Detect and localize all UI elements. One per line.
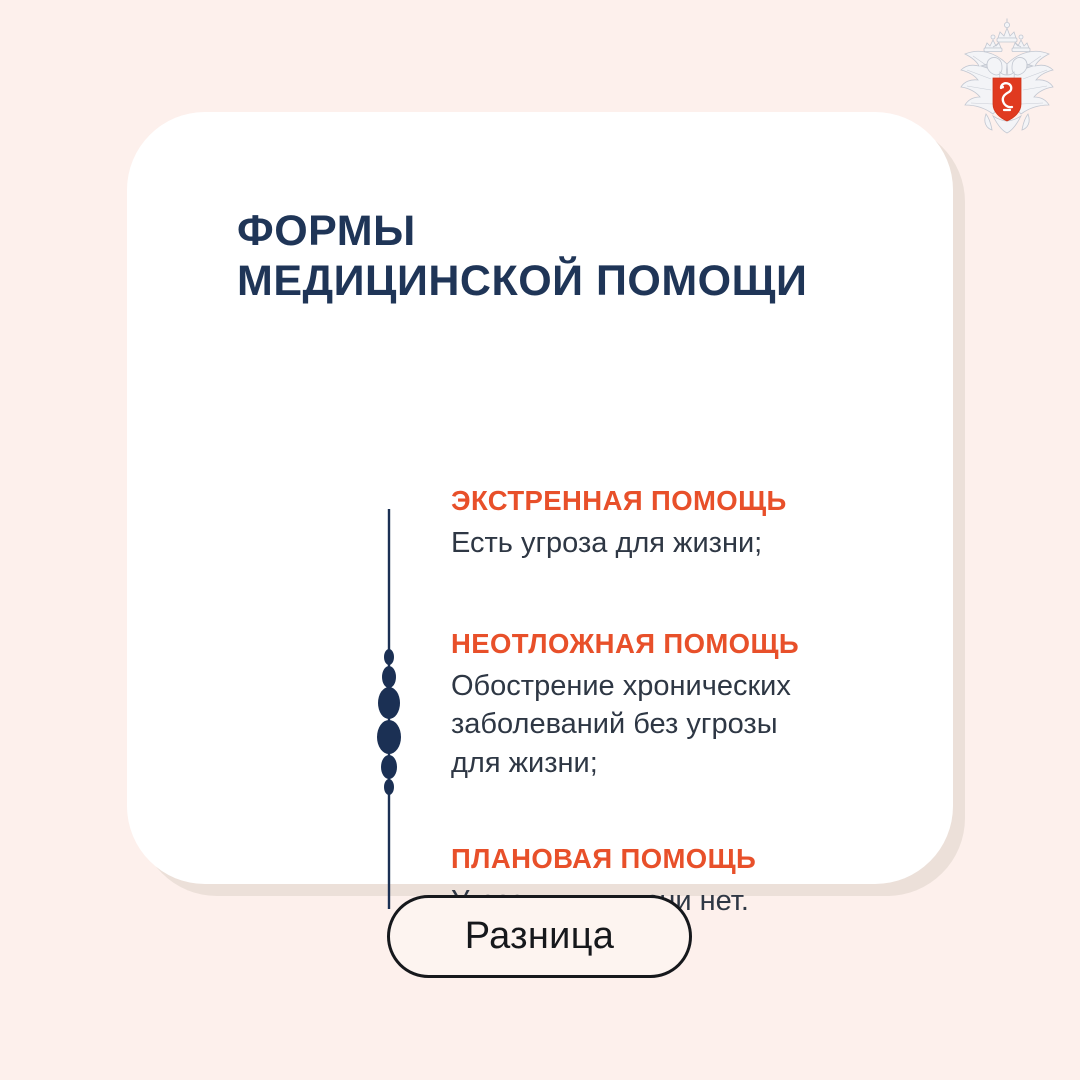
page-title: ФОРМЫ МЕДИЦИНСКОЙ ПОМОЩИ (237, 207, 897, 307)
content-card: ФОРМЫ МЕДИЦИНСКОЙ ПОМОЩИ ЭКСТРЕННАЯ ПОМО… (127, 112, 953, 884)
ornament-svg (374, 509, 404, 909)
difference-button[interactable]: Разница (387, 895, 692, 978)
list-item-description: Есть угроза для жизни; (451, 524, 921, 562)
beaded-vertical-divider-icon (374, 509, 404, 909)
list-item-title: ЭКСТРЕННАЯ ПОМОЩЬ (451, 484, 921, 517)
emblem-svg (953, 18, 1061, 138)
list-item-title: ПЛАНОВАЯ ПОМОЩЬ (451, 842, 921, 875)
list-item-line: заболеваний без угрозы (451, 705, 921, 743)
title-line-2: МЕДИЦИНСКОЙ ПОМОЩИ (237, 257, 897, 307)
emblem-shield (993, 78, 1021, 121)
list-item: ЭКСТРЕННАЯ ПОМОЩЬ Есть угроза для жизни; (451, 484, 921, 562)
list-item-line: Обострение хронических (451, 667, 921, 705)
list-item-title: НЕОТЛОЖНАЯ ПОМОЩЬ (451, 627, 921, 660)
list-item-description: Обострение хронических заболеваний без у… (451, 667, 921, 782)
list-item-line: Есть угроза для жизни; (451, 524, 921, 562)
list-item-line: для жизни; (451, 744, 921, 782)
difference-button-label: Разница (465, 915, 614, 958)
list-item: НЕОТЛОЖНАЯ ПОМОЩЬ Обострение хронических… (451, 627, 921, 782)
roszdravnadzor-emblem (953, 18, 1061, 138)
title-line-1: ФОРМЫ (237, 207, 897, 257)
